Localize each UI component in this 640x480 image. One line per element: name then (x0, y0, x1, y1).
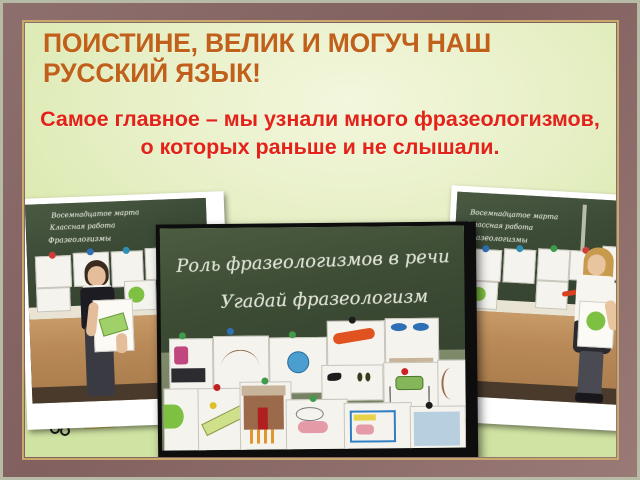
student-legs (577, 351, 604, 398)
pin-magnet (289, 331, 296, 338)
drawing-yellow-strip (354, 414, 376, 420)
student-drawing (36, 287, 71, 312)
pin-magnet (213, 384, 220, 391)
drawing-pink-hand (356, 424, 374, 434)
drawing-small-birds (365, 372, 370, 381)
pin-magnet (426, 402, 433, 409)
drawing-small-birds (357, 373, 362, 382)
pin-magnet (261, 378, 268, 385)
photo-center-image: Роль фразеологизмов в речи Угадай фразео… (160, 225, 466, 450)
pin-magnet (349, 317, 356, 324)
student-figure (71, 259, 126, 402)
pin-magnet (310, 395, 317, 402)
drawing-brown-arc (441, 367, 465, 399)
student-arm (116, 333, 128, 353)
drawing-person-figure (174, 346, 188, 364)
page-title: ПОИСТИНЕ, ВЕЛИК И МОГУЧ НАШ РУССКИЙ ЯЗЫК… (43, 29, 588, 88)
drawing-green-half-circle (164, 404, 184, 428)
drawing-dark-block (171, 368, 205, 382)
photo-center: Роль фразеологизмов в речи Угадай фразео… (156, 221, 478, 457)
student-drawing (35, 255, 72, 288)
drawing-pink-shape (298, 421, 328, 433)
drawing-red-door (258, 408, 268, 430)
drawing-house-roof (241, 385, 285, 395)
drawing-light-blue-block (414, 412, 460, 446)
pin-magnet (227, 328, 234, 335)
drawing-orange-strokes (250, 429, 278, 443)
student-figure (558, 246, 616, 405)
slide-canvas: ПОИСТИНЕ, ВЕЛИК И МОГУЧ НАШ РУССКИЙ ЯЗЫК… (25, 23, 616, 457)
page-subtitle: Самое главное – мы узнали много фразеоло… (35, 106, 605, 161)
student-drawing (502, 248, 536, 284)
drawing-green-blob (395, 376, 423, 390)
drawing-yellow-dot (210, 402, 217, 409)
student-shoes (575, 392, 603, 403)
student-face (87, 266, 106, 287)
student-drawing (321, 364, 383, 401)
pin-magnet (179, 332, 186, 339)
drawing-red-flower (401, 368, 408, 375)
drawing-globe (287, 351, 309, 373)
slide: ПОИСТИНЕ, ВЕЛИК И МОГУЧ НАШ РУССКИЙ ЯЗЫК… (0, 0, 640, 480)
